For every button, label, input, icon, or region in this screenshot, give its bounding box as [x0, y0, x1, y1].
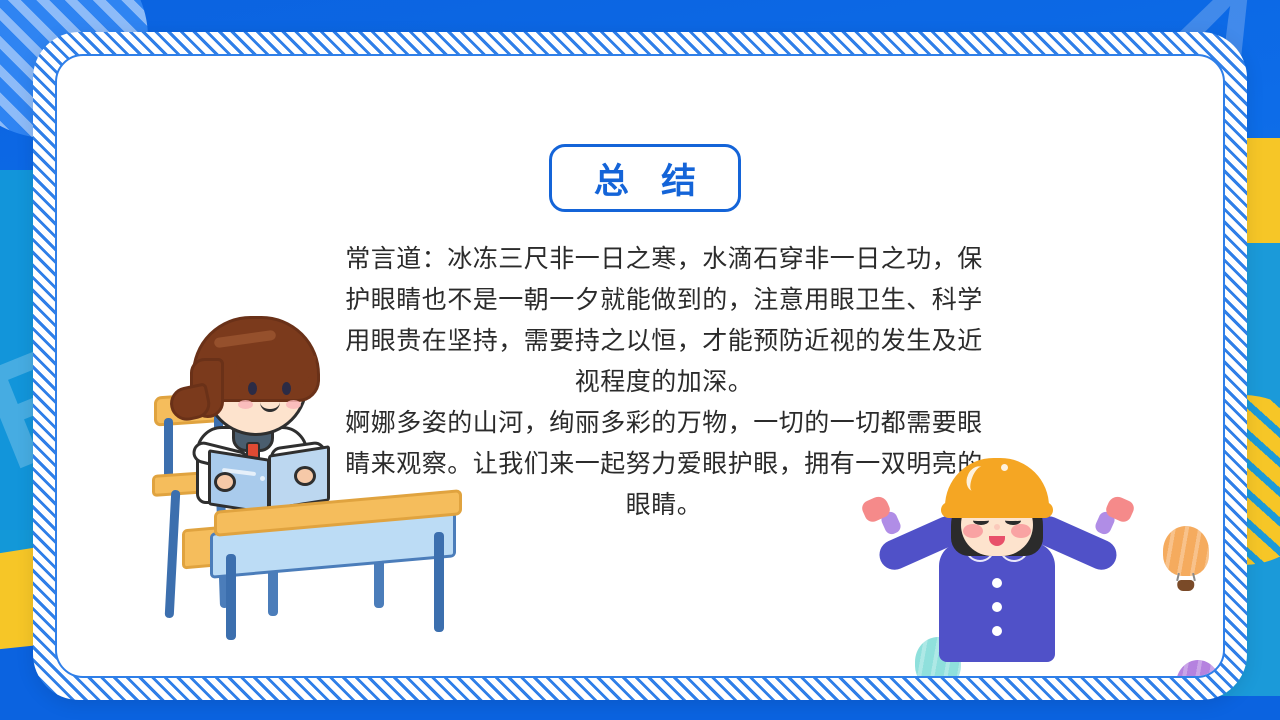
girl-blush-left: [238, 400, 253, 409]
chair-leg-left: [165, 490, 181, 618]
page-title: 总 结: [584, 153, 706, 204]
illustration-cheering-girl: [847, 450, 1147, 678]
girl-hand-left: [214, 472, 236, 492]
cheering-girl-button-3: [992, 626, 1002, 636]
desk-leg-front-right: [434, 532, 444, 632]
cheering-girl-blush-right: [1011, 524, 1031, 538]
cheering-girl-hat-brim: [941, 502, 1053, 518]
cheering-girl-blush-left: [963, 524, 983, 538]
cheering-girl-button-1: [992, 578, 1002, 588]
desk-leg-front-left: [226, 554, 236, 640]
content-card: 总 结 常言道：冰冻三尺非一日之寒，水滴石穿非一日之功，保护眼睛也不是一朝一夕就…: [55, 54, 1225, 678]
girl-eye-left: [248, 382, 257, 395]
hot-air-balloon-purple: [1176, 660, 1220, 678]
girl-blush-right: [286, 400, 301, 409]
content-card-striped-frame: 总 结 常言道：冰冻三尺非一日之寒，水滴石穿非一日之功，保护眼睛也不是一朝一夕就…: [33, 32, 1247, 700]
cheering-girl-hat-dot: [1001, 464, 1008, 471]
section-title-box: 总 结: [549, 144, 741, 212]
hot-air-balloon-orange: [1163, 526, 1209, 590]
book-text-dot: [260, 476, 265, 481]
girl-eye-right: [282, 382, 291, 395]
girl-hand-right: [294, 466, 316, 486]
balloon-envelope: [1163, 526, 1209, 576]
balloon-envelope: [1176, 660, 1220, 678]
illustration-girl-reading-at-desk: [152, 314, 462, 654]
balloon-basket: [1177, 580, 1194, 592]
cheering-girl-nose: [994, 524, 1000, 530]
slide-canvas: E A Y 总 结 常言道：冰冻三尺非一日之寒，水滴石穿非一日之功，保护眼睛也不…: [0, 0, 1280, 720]
chair-post-left: [164, 418, 173, 480]
cheering-girl-button-2: [992, 602, 1002, 612]
